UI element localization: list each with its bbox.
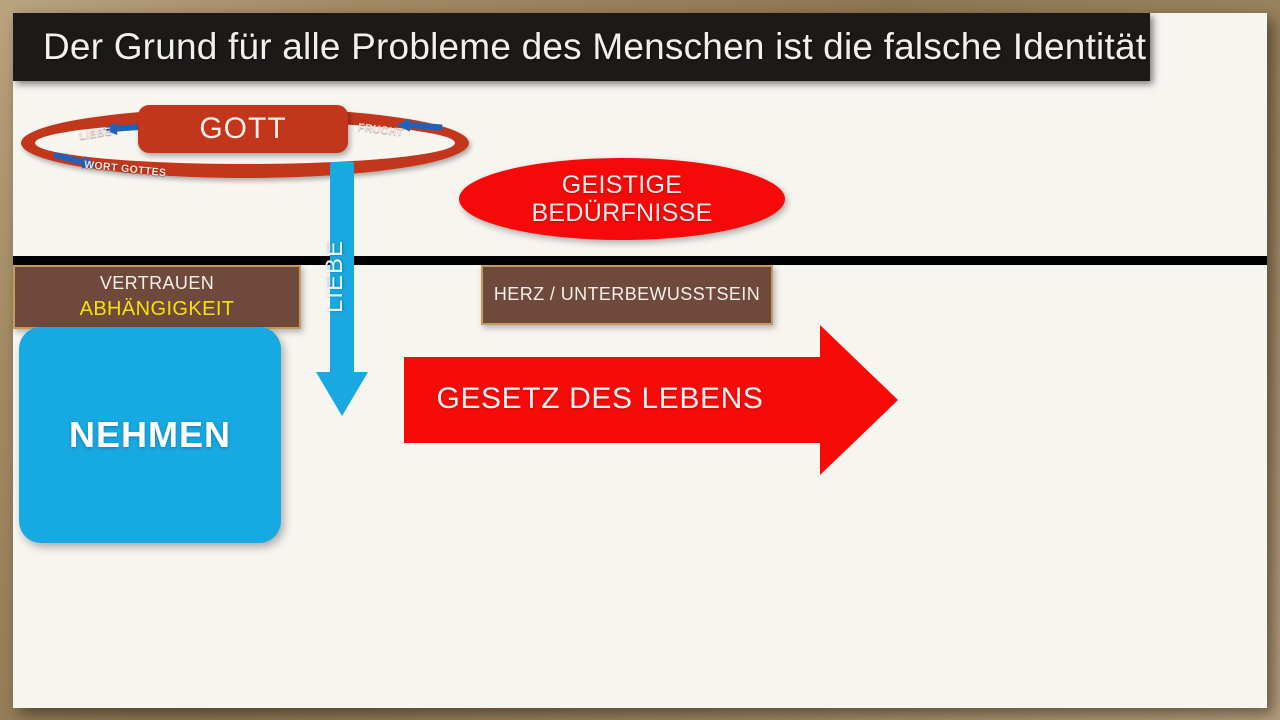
slide-title-bar: Der Grund für alle Probleme des Menschen… — [13, 13, 1150, 81]
slide-canvas: Der Grund für alle Probleme des Menschen… — [13, 13, 1267, 708]
arrow-right-icon — [390, 325, 900, 475]
page-title: Der Grund für alle Probleme des Menschen… — [43, 26, 1146, 68]
arrow-down-icon — [316, 372, 368, 416]
god-box: GOTT — [138, 105, 348, 153]
spiritual-needs-line-1: GEISTIGE — [562, 171, 682, 200]
heart-subconscious-box: HERZ / UNTERBEWUSSTSEIN — [481, 265, 773, 325]
liebe-arrow-label: LIEBE — [321, 240, 363, 313]
liebe-down-arrow: LIEBE — [316, 162, 368, 422]
trust-box: VERTRAUEN ABHÄNGIGKEIT — [13, 265, 301, 329]
law-of-life-arrow: GESETZ DES LEBENS — [390, 325, 900, 475]
heart-subconscious-label: HERZ / UNTERBEWUSSTSEIN — [494, 283, 760, 306]
nehmen-label: NEHMEN — [69, 414, 231, 456]
spiritual-needs-ellipse: GEISTIGE BEDÜRFNISSE — [459, 158, 785, 240]
horizontal-divider — [13, 256, 1267, 265]
god-cycle-group: LIEBE FRUCHT WORT GOTTES GOTT — [21, 90, 481, 190]
spiritual-needs-line-2: BEDÜRFNISSE — [531, 199, 712, 228]
trust-box-line-1: VERTRAUEN — [100, 272, 214, 295]
trust-box-line-2: ABHÄNGIGKEIT — [80, 296, 235, 322]
nehmen-box: NEHMEN — [19, 327, 281, 543]
god-label: GOTT — [199, 112, 286, 146]
